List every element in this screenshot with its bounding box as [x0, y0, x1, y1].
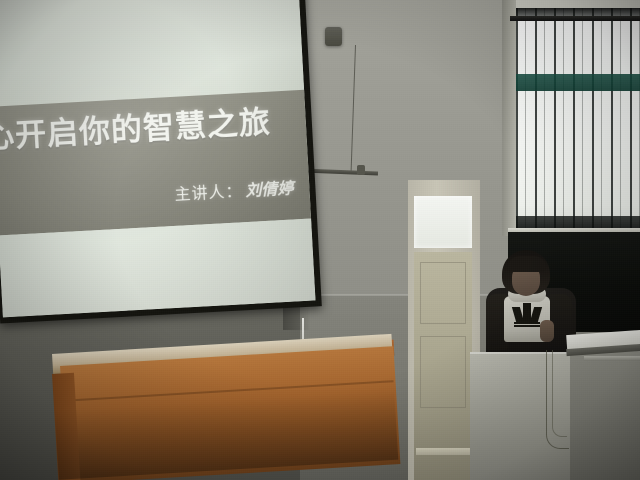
slide-bottom-band: [0, 218, 315, 317]
desk-body: [570, 350, 640, 480]
conduit-clip: [357, 165, 365, 175]
person-fringe: [508, 256, 546, 272]
slide-top-band: [0, 0, 304, 107]
speaker-name: 刘倩婷: [245, 181, 294, 201]
seated-person: [486, 250, 576, 360]
wall-speaker-icon: [325, 27, 342, 46]
door-kickplate: [416, 448, 470, 455]
projection-screen: 心开启你的智慧之旅 主讲人：刘倩婷: [0, 0, 322, 324]
person-hand: [540, 320, 554, 342]
curtain-stripes: [516, 8, 640, 232]
curtain-rod: [510, 16, 640, 21]
door-panel-upper: [420, 262, 466, 324]
screen-surface: 心开启你的智慧之旅 主讲人：刘倩婷: [0, 0, 315, 317]
speaker-label: 主讲人：: [174, 184, 243, 205]
trefoil-bar-2: [514, 325, 540, 327]
curtain-green-band: [516, 74, 640, 91]
door-panel-lower: [420, 336, 466, 408]
door-leaf[interactable]: [414, 252, 472, 480]
trefoil-bar-1: [514, 322, 540, 324]
lecture-hall-photo: 心开启你的智慧之旅 主讲人：刘倩婷: [0, 0, 640, 480]
hanging-cable-second: [552, 350, 567, 437]
wooden-podium: [52, 336, 392, 480]
door-transom-window: [414, 196, 472, 248]
desk-rail: [584, 356, 640, 361]
adidas-trefoil-icon: [514, 306, 540, 326]
window-jamb: [502, 0, 516, 236]
window-curtain: [516, 8, 640, 232]
podium-front-panel: [60, 346, 400, 480]
